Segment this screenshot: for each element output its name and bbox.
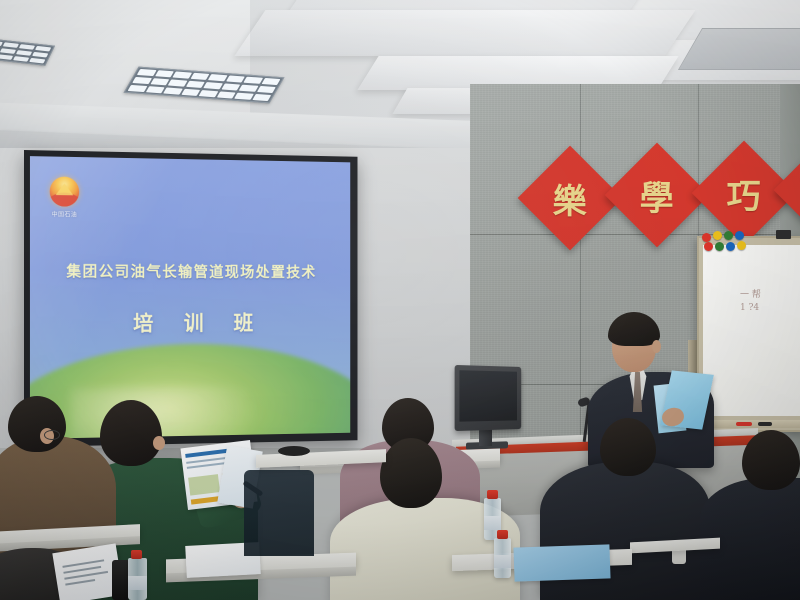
bottle-label xyxy=(484,516,501,530)
bottle-label xyxy=(494,555,511,569)
projection-screen-frame: 中国石油 集团公司油气长输管道现场处置技术 培 训 班 xyxy=(24,150,357,447)
attendee-far-right-head xyxy=(742,430,800,490)
attendee-brown-head xyxy=(8,396,66,452)
magnet-yellow[interactable] xyxy=(713,231,722,240)
screen-glare xyxy=(30,156,350,439)
water-bottle[interactable] xyxy=(494,538,511,578)
whiteboard-line-2: 1 ?4 xyxy=(740,302,796,315)
whiteboard-writing: 一 帮 1 ?4 xyxy=(740,289,796,333)
magnet-red[interactable] xyxy=(704,242,713,251)
magnet-green[interactable] xyxy=(724,231,733,240)
bottle-cap xyxy=(497,530,508,539)
presenter-ear xyxy=(652,340,661,353)
whiteboard-clip[interactable] xyxy=(776,230,791,239)
attendee-right-head xyxy=(600,418,656,476)
ceiling-light-grille-left xyxy=(0,38,55,66)
whiteboard-magnets[interactable] xyxy=(700,231,762,253)
computer-monitor[interactable] xyxy=(455,365,522,431)
magnet-blue[interactable] xyxy=(735,231,744,240)
whiteboard-surface[interactable]: 一 帮 1 ?4 xyxy=(703,245,800,416)
projection-screen-surface: 中国石油 集团公司油气长输管道现场处置技术 培 训 班 xyxy=(30,156,350,439)
water-bottle[interactable] xyxy=(128,558,147,600)
magnet-green[interactable] xyxy=(715,242,724,251)
whiteboard-marker-tray xyxy=(702,420,800,428)
training-room-photo: 中国石油 集团公司油气长输管道现场处置技术 培 训 班 樂 學 巧 为 一 帮 … xyxy=(0,0,800,600)
attendee-green-ear xyxy=(153,436,165,450)
marker-red[interactable] xyxy=(736,422,752,426)
blue-handout[interactable] xyxy=(513,544,610,581)
desk-object-dark xyxy=(278,446,310,456)
bottle-label xyxy=(128,576,147,590)
attendee-green-head xyxy=(100,400,162,466)
magnet-blue[interactable] xyxy=(726,242,735,251)
eyeglasses-icon xyxy=(44,430,60,440)
magnet-yellow[interactable] xyxy=(737,241,746,250)
bottle-cap xyxy=(487,490,498,499)
banner-char: 巧 xyxy=(727,169,761,218)
magnet-red[interactable] xyxy=(702,233,711,242)
whiteboard-line-1: 一 帮 xyxy=(740,289,796,302)
banner-char: 學 xyxy=(640,171,674,220)
bottle-cap xyxy=(131,550,142,559)
attendee-cream-head xyxy=(380,438,442,508)
chair-back xyxy=(244,470,314,556)
monitor-screen xyxy=(459,370,517,421)
banner-char: 樂 xyxy=(553,174,587,223)
marker-black[interactable] xyxy=(758,422,772,426)
